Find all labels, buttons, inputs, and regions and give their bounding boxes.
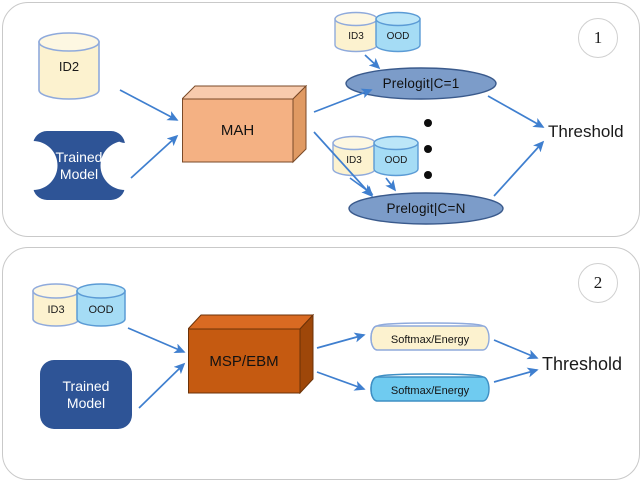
cylinder-ood-mid: OOD <box>373 136 419 176</box>
ellipsis-dot <box>424 171 432 179</box>
ellipsis-dot <box>424 145 432 153</box>
cylinder-softmax-energy-bottom: Softmax/Energy <box>368 372 492 404</box>
cylinder-softmax-energy-top: Softmax/Energy <box>368 321 492 353</box>
diagram-canvas: 1 ID2 Trained Model MAH <box>0 0 640 482</box>
cylinder-id2: ID2 <box>38 32 100 100</box>
threshold-label-1: Threshold <box>548 122 624 142</box>
shape-trained-model-2: Trained Model <box>40 360 132 429</box>
cylinder-ood-top: OOD <box>375 12 421 52</box>
cylinder-ood-p2: OOD <box>76 283 126 327</box>
box-mah: MAH <box>182 85 307 164</box>
panel-1-badge: 1 <box>578 18 618 58</box>
cylinder-id3-mid: ID3 <box>332 136 376 176</box>
panel-2-badge: 2 <box>578 263 618 303</box>
ellipse-prelogit-c1: Prelogit|C=1 <box>345 67 497 100</box>
shape-trained-model-1: Trained Model <box>33 131 125 200</box>
ellipse-prelogit-cn: Prelogit|C=N <box>348 192 504 225</box>
threshold-label-2: Threshold <box>542 354 622 375</box>
cylinder-id3-p2: ID3 <box>32 283 80 327</box>
cylinder-id3-top: ID3 <box>334 12 378 52</box>
box-msp-ebm: MSP/EBM <box>188 314 314 394</box>
ellipsis-dot <box>424 119 432 127</box>
